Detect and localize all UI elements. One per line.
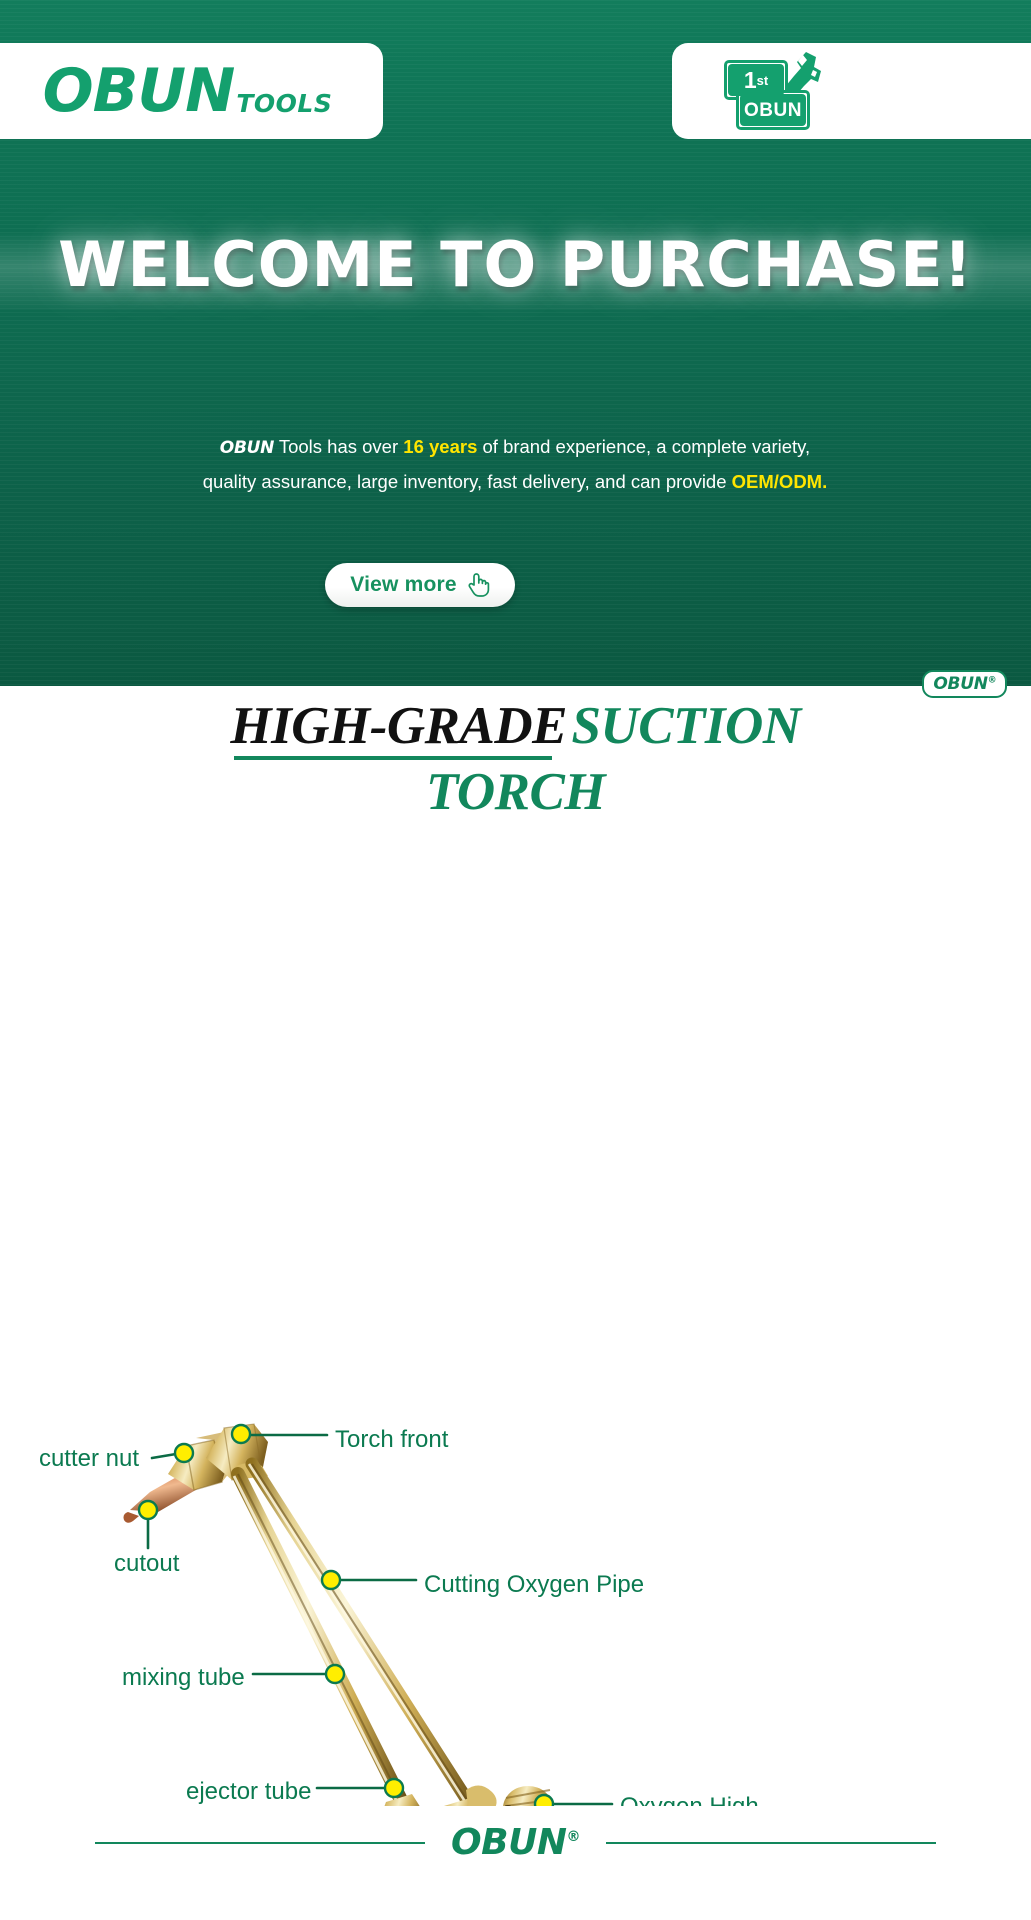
registered-mark: ®: [988, 675, 997, 685]
first-obun-badge-art: 1st OBUN: [714, 48, 824, 134]
callout-dot: [322, 1571, 340, 1589]
callout-label-cutout: cutout: [114, 1550, 180, 1577]
callout-label-ejector-tube: ejector tube: [186, 1778, 311, 1805]
callout-label-torch-front: Torch front: [335, 1426, 449, 1453]
callout-cutout: cutout: [114, 1501, 180, 1577]
callout-label-cutting-oxygen-pipe: Cutting Oxygen Pipe: [424, 1571, 644, 1598]
hand-pointer-icon: [466, 572, 490, 598]
footer-registered-mark: ®: [566, 1829, 580, 1845]
paragraph-seg1: Tools has over: [274, 436, 403, 457]
callout-cutting-oxygen-pipe: Cutting Oxygen Pipe: [322, 1571, 644, 1598]
paragraph-line2: quality assurance, large inventory, fast…: [203, 471, 732, 492]
page-footer: OBUN®: [0, 1806, 1031, 1920]
hero-banner: OBUN TOOLS 1st OBUN WELCOME TO PURCHASE!…: [0, 0, 1031, 686]
footer-rule-right: [606, 1842, 936, 1844]
brand-logo-plate[interactable]: OBUN TOOLS: [0, 43, 383, 139]
footer-brand-text: OBUN: [451, 1822, 566, 1863]
callout-dot: [175, 1444, 193, 1462]
brand-logo-text: OBUN: [43, 61, 235, 121]
callout-ejector-tube: ejector tube: [186, 1778, 403, 1805]
torch-tubes: [234, 1464, 476, 1814]
callout-dot: [139, 1501, 157, 1519]
callout-label-cutter-nut: cutter nut: [39, 1445, 139, 1472]
footer-brand-logo: OBUN®: [451, 1822, 580, 1863]
callout-dot: [385, 1779, 403, 1797]
callout-dot: [232, 1425, 250, 1443]
hero-paragraph: OBUN Tools has over 16 years of brand ex…: [115, 430, 915, 498]
paragraph-seg2: of brand experience, a complete variety,: [477, 436, 810, 457]
callout-label-mixing-tube: mixing tube: [122, 1664, 245, 1691]
first-obun-badge-plate[interactable]: 1st OBUN: [672, 43, 1031, 139]
product-section: HIGH-GRADE SUCTION TORCH OBUN®: [0, 686, 1031, 1920]
view-more-button[interactable]: View more: [325, 563, 515, 607]
badge-first-label: 1st: [728, 64, 784, 96]
callout-dot: [326, 1665, 344, 1683]
callout-cutter-nut: cutter nut: [39, 1444, 193, 1472]
paragraph-highlight-oem: OEM/ODM.: [732, 471, 828, 492]
callout-mixing-tube: mixing tube: [122, 1664, 344, 1691]
brand-logo-subtext: TOOLS: [236, 91, 332, 121]
torch-diagram: J01-30: [0, 686, 1031, 1920]
hero-headline: WELCOME TO PURCHASE!: [0, 228, 1031, 301]
footer-rule-left: [95, 1842, 425, 1844]
paragraph-highlight-years: 16 years: [403, 436, 477, 457]
view-more-label: View more: [350, 573, 456, 597]
torch-diagram-canvas: J01-30: [0, 686, 1031, 1920]
badge-first-number: 1: [744, 69, 757, 92]
badge-brand-label: OBUN: [740, 94, 806, 126]
badge-first-suffix: st: [757, 74, 769, 87]
paragraph-brand: OBUN: [220, 438, 274, 458]
